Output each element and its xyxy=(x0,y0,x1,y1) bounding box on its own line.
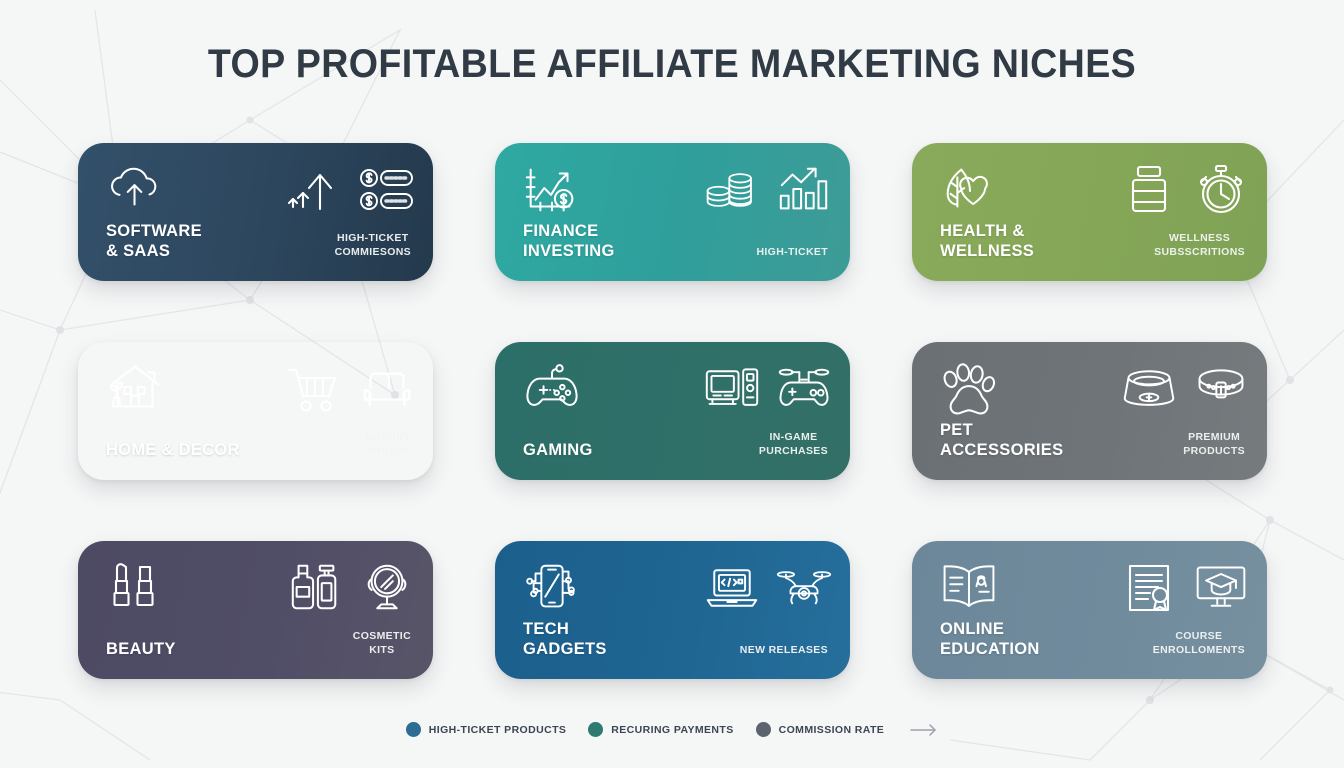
pet-collar-icon xyxy=(1193,362,1249,416)
niche-card-tech-gadgets[interactable]: TECH GADGETS NEW RELEASES xyxy=(495,541,850,679)
card-title: ONLINE EDUCATION xyxy=(940,619,1040,659)
card-note-line2: COMMIESONS xyxy=(335,246,411,259)
card-icon-row xyxy=(104,358,415,420)
card-note-line1: IN-GAME xyxy=(759,431,828,444)
gamepad-icon xyxy=(521,360,583,418)
supplement-bottle-icon xyxy=(1121,163,1177,217)
niche-card-home-decor[interactable]: HOME & DECOR LUXURY GOODS xyxy=(78,342,433,480)
legend: HIGH-TICKET PRODUCTS RECURING PAYMENTS C… xyxy=(0,722,1344,737)
niche-card-gaming[interactable]: GAMING IN-GAME PURCHASES xyxy=(495,342,850,480)
legend-item-recuring-payments[interactable]: RECURING PAYMENTS xyxy=(588,722,733,737)
card-content: GAMING IN-GAME PURCHASES xyxy=(495,342,850,480)
shopping-cart-icon xyxy=(287,362,343,416)
card-note: NEW RELEASES xyxy=(740,644,828,657)
card-title-line1: SOFTWARE xyxy=(106,221,202,241)
card-title-line2: ACCESSORIES xyxy=(940,440,1063,460)
paw-print-icon xyxy=(938,360,1000,418)
niche-card-software-saas[interactable]: SOFTWARE & SAAS HIGH-TICKET COMMIESONS xyxy=(78,143,433,281)
open-book-icon xyxy=(938,559,1000,617)
card-note-line1: WELLNESS xyxy=(1154,232,1245,245)
legend-item-commission-rate[interactable]: COMMISSION RATE xyxy=(756,722,885,737)
card-title-line1: FINANCE xyxy=(523,221,615,241)
card-note-line1: NEW RELEASES xyxy=(740,644,828,657)
card-note-line2: PRODUCTS xyxy=(1183,445,1245,458)
card-title-line2: WELLNESS xyxy=(940,241,1034,261)
card-title-line1: HOME & DECOR xyxy=(106,440,240,460)
card-note-line2: ENROLLOMENTS xyxy=(1153,644,1245,657)
card-title: TECH GADGETS xyxy=(523,619,607,659)
card-title-line1: PET xyxy=(940,420,1063,440)
card-content: ONLINE EDUCATION COURSE ENROLLOMENTS xyxy=(912,541,1267,679)
card-note: COURSE ENROLLOMENTS xyxy=(1153,630,1245,657)
card-icon-row xyxy=(938,557,1249,619)
drone-icon xyxy=(776,561,832,615)
card-title-line2: EDUCATION xyxy=(940,639,1040,659)
legend-dot-teal-icon xyxy=(588,722,603,737)
card-title-line2: & SAAS xyxy=(106,241,202,261)
pet-bowl-icon xyxy=(1121,362,1177,416)
card-note-line1: COSMETIC xyxy=(353,630,411,643)
card-title: GAMING xyxy=(523,440,593,460)
card-note-line1: LUXURY xyxy=(366,431,411,444)
coin-stack-icon xyxy=(704,163,760,217)
legend-label: HIGH-TICKET PRODUCTS xyxy=(429,724,567,736)
card-title-line2: GADGETS xyxy=(523,639,607,659)
legend-item-high-ticket-products[interactable]: HIGH-TICKET PRODUCTS xyxy=(406,722,567,737)
cosmetic-bottles-icon xyxy=(287,561,343,615)
page-title: TOP PROFITABLE AFFILIATE MARKETING NICHE… xyxy=(40,42,1303,87)
vanity-mirror-icon xyxy=(359,561,415,615)
line-chart-dollar-icon xyxy=(521,161,583,219)
card-icon-row xyxy=(521,159,832,221)
legend-dot-blue-icon xyxy=(406,722,421,737)
bar-chart-growth-icon xyxy=(776,163,832,217)
card-content: FINANCE INVESTING HIGH-TICKET xyxy=(495,143,850,281)
growth-arrow-icon xyxy=(287,163,343,217)
card-note-line2: KITS xyxy=(353,644,411,657)
infographic-page: TOP PROFITABLE AFFILIATE MARKETING NICHE… xyxy=(0,0,1344,768)
lipstick-icon xyxy=(104,559,166,617)
card-icon-row xyxy=(938,159,1249,221)
card-note-line2: PURCHASES xyxy=(759,445,828,458)
card-content: SOFTWARE & SAAS HIGH-TICKET COMMIESONS xyxy=(78,143,433,281)
card-icon-row xyxy=(521,358,832,420)
niche-card-beauty[interactable]: BEAUTY COSMETIC KITS xyxy=(78,541,433,679)
card-title: HEALTH & WELLNESS xyxy=(940,221,1034,261)
card-content: HEALTH & WELLNESS WELLNESS SUBSSCRITIONS xyxy=(912,143,1267,281)
card-icon-row xyxy=(104,557,415,619)
legend-label: RECURING PAYMENTS xyxy=(611,724,733,736)
card-note-line1: COURSE xyxy=(1153,630,1245,643)
card-content: BEAUTY COSMETIC KITS xyxy=(78,541,433,679)
page-title-container: TOP PROFITABLE AFFILIATE MARKETING NICHE… xyxy=(0,42,1344,87)
legend-dot-gray-icon xyxy=(756,722,771,737)
card-title: SOFTWARE & SAAS xyxy=(106,221,202,261)
card-note-line1: PREMIUM xyxy=(1183,431,1245,444)
card-note: COSMETIC KITS xyxy=(353,630,411,657)
niche-card-health-wellness[interactable]: HEALTH & WELLNESS WELLNESS SUBSSCRITIONS xyxy=(912,143,1267,281)
card-title: BEAUTY xyxy=(106,639,176,659)
card-note: PREMIUM PRODUCTS xyxy=(1183,431,1245,458)
card-title-line2: INVESTING xyxy=(523,241,615,261)
desktop-pc-icon xyxy=(704,362,760,416)
card-note: HIGH-TICKET xyxy=(756,246,828,259)
card-title-line1: HEALTH & xyxy=(940,221,1034,241)
cloud-upload-icon xyxy=(104,161,166,219)
niche-card-online-education[interactable]: ONLINE EDUCATION COURSE ENROLLOMENTS xyxy=(912,541,1267,679)
card-note: HIGH-TICKET COMMIESONS xyxy=(335,232,411,259)
leaf-heart-icon xyxy=(938,161,1000,219)
card-title-line1: GAMING xyxy=(523,440,593,460)
stopwatch-icon xyxy=(1193,163,1249,217)
card-note-line1: HIGH-TICKET xyxy=(335,232,411,245)
card-title-line1: BEAUTY xyxy=(106,639,176,659)
house-plant-icon xyxy=(104,360,166,418)
card-note: WELLNESS SUBSSCRITIONS xyxy=(1154,232,1245,259)
card-title: HOME & DECOR xyxy=(106,440,240,460)
certificate-icon xyxy=(1121,561,1177,615)
legend-label: COMMISSION RATE xyxy=(779,724,885,736)
card-title: PET ACCESSORIES xyxy=(940,420,1063,460)
card-content: PET ACCESSORIES PREMIUM PRODUCTS xyxy=(912,342,1267,480)
card-icon-row xyxy=(104,159,415,221)
sofa-icon xyxy=(359,362,415,416)
card-title-line1: TECH xyxy=(523,619,607,639)
card-content: HOME & DECOR LUXURY GOODS xyxy=(78,342,433,480)
card-icon-row xyxy=(521,557,832,619)
dollar-badge-icon xyxy=(359,163,415,217)
card-title-line1: ONLINE xyxy=(940,619,1040,639)
laptop-code-icon xyxy=(704,561,760,615)
smartphone-circuit-icon xyxy=(521,559,583,617)
card-note-line2: GOODS xyxy=(366,445,411,458)
graduation-monitor-icon xyxy=(1193,561,1249,615)
niche-card-grid: SOFTWARE & SAAS HIGH-TICKET COMMIESONS xyxy=(78,143,1267,679)
niche-card-finance-investing[interactable]: FINANCE INVESTING HIGH-TICKET xyxy=(495,143,850,281)
card-note: LUXURY GOODS xyxy=(366,431,411,458)
card-note-line2: SUBSSCRITIONS xyxy=(1154,246,1245,259)
niche-card-pet-accessories[interactable]: PET ACCESSORIES PREMIUM PRODUCTS xyxy=(912,342,1267,480)
card-content: TECH GADGETS NEW RELEASES xyxy=(495,541,850,679)
card-note: IN-GAME PURCHASES xyxy=(759,431,828,458)
card-note-line1: HIGH-TICKET xyxy=(756,246,828,259)
card-icon-row xyxy=(938,358,1249,420)
game-controller-icon xyxy=(776,362,832,416)
card-title: FINANCE INVESTING xyxy=(523,221,615,261)
arrow-right-icon xyxy=(910,723,938,737)
